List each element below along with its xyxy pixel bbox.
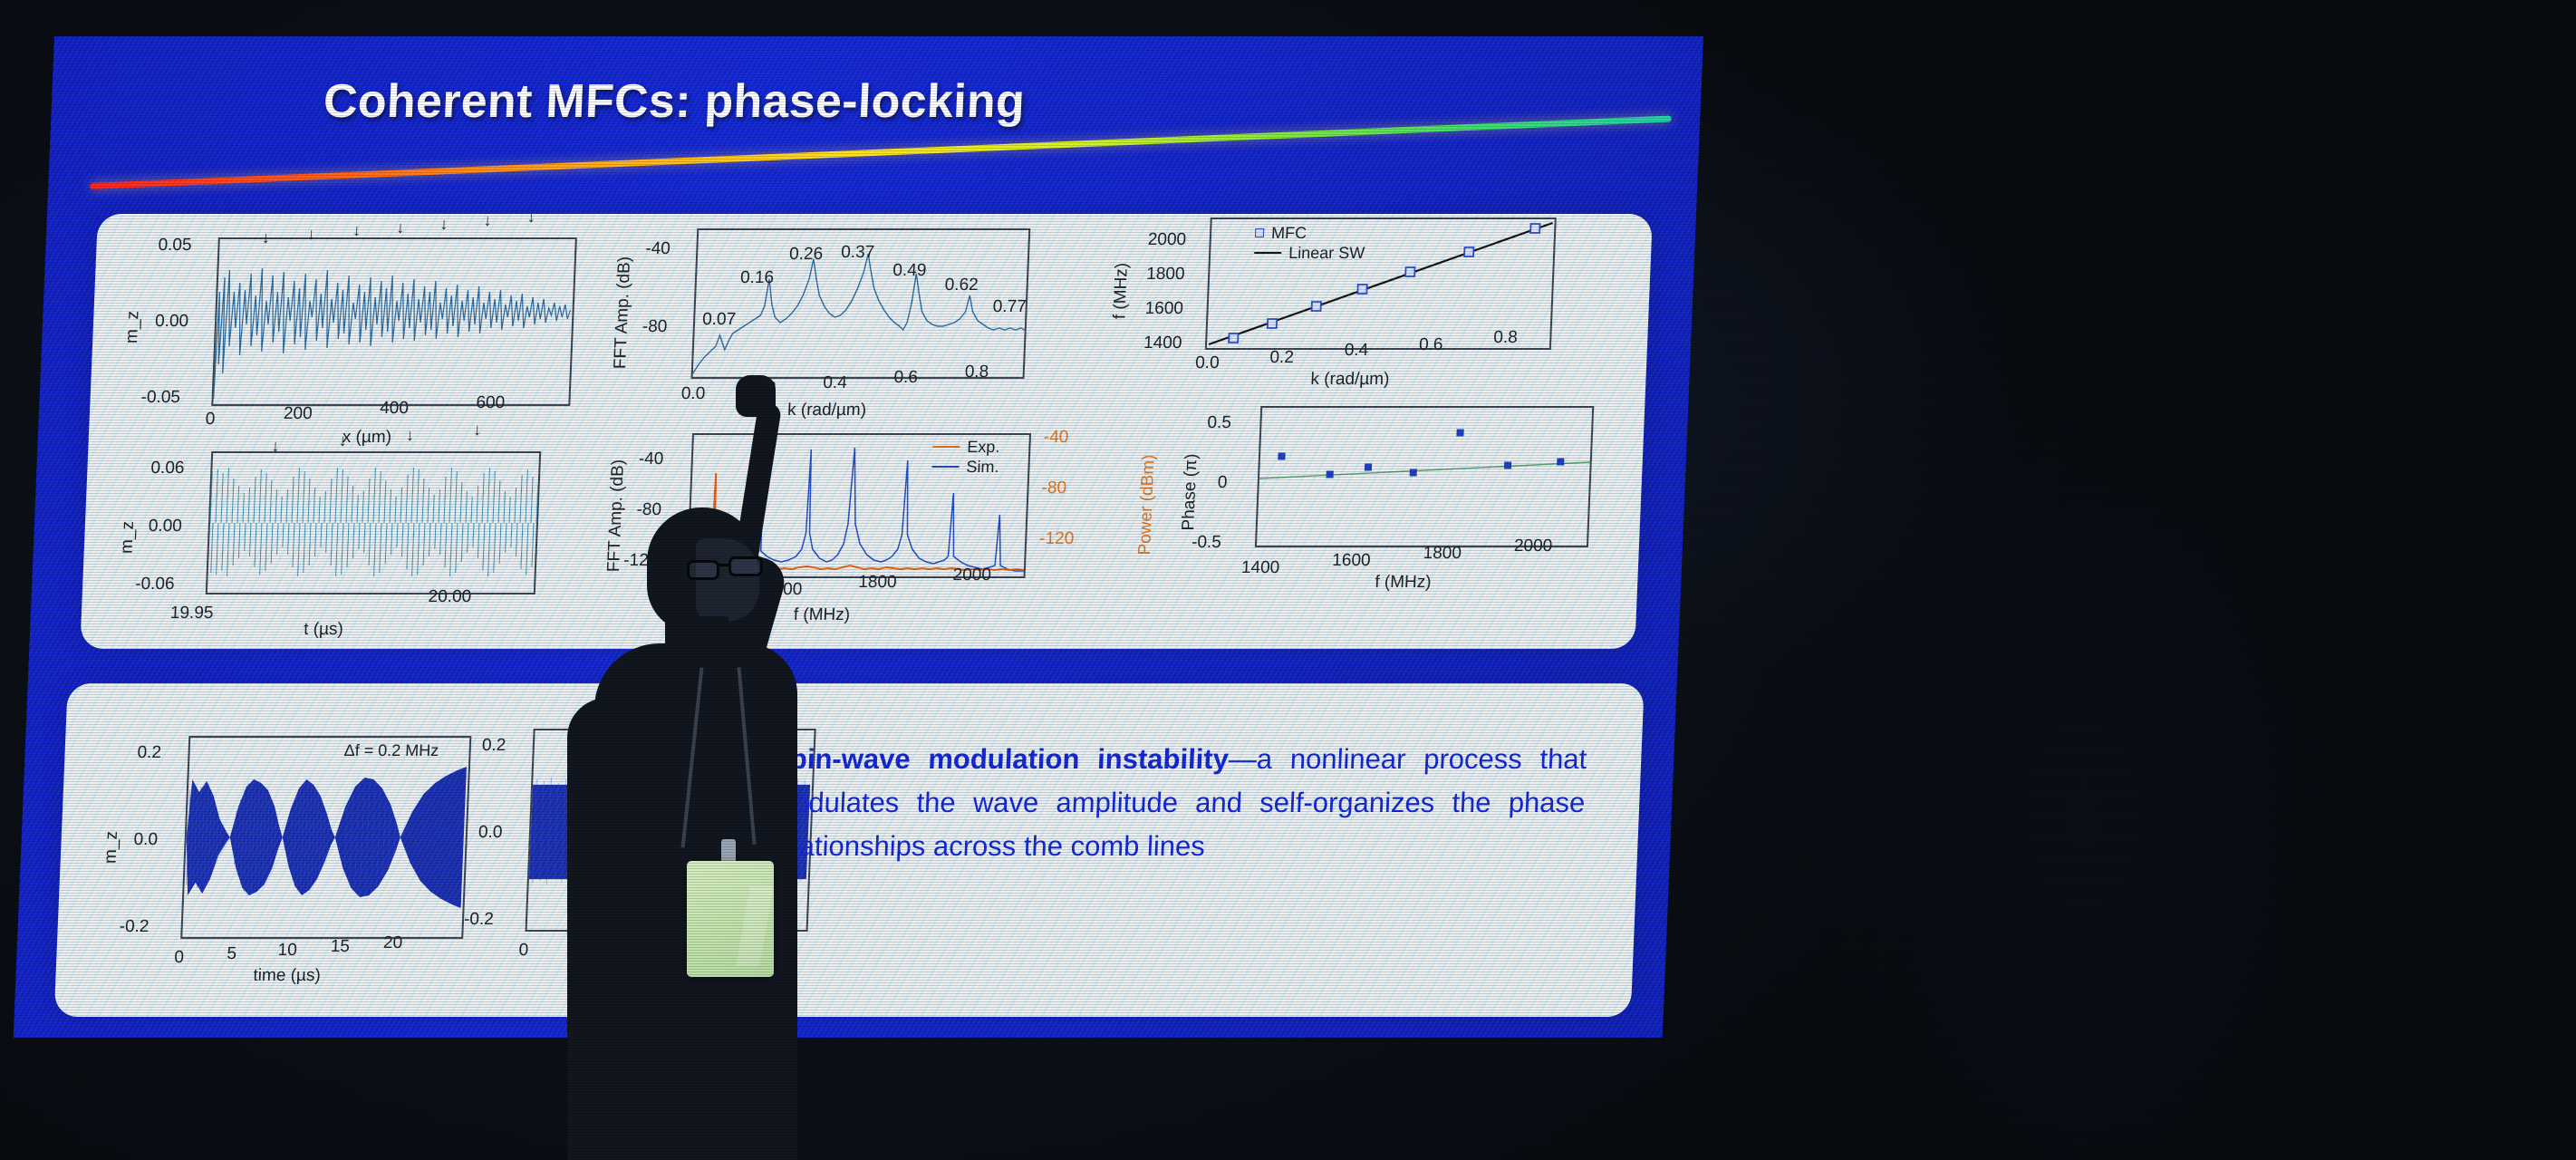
p4-ylabel: m_z [118,521,139,554]
p6-xtick-2: 1800 [1423,544,1462,564]
p2-peak-0: 0.07 [702,310,737,330]
p1-arrow-2: ↓ [307,225,316,244]
p8-ytick-1: 0.0 [478,823,503,843]
panel-modulated-left: m_z 0.2 0.0 -0.2 Δf = [92,721,483,984]
p6-xtick-3: 2000 [1513,536,1552,556]
p5-legend-label-0: Exp. [967,438,1000,457]
p2-peak-4: 0.49 [892,261,927,281]
p1-arrow-5: ↓ [439,215,449,234]
p1-xtick-1: 200 [283,404,313,424]
p3-legend-label-0: MFC [1271,224,1307,243]
panel-dispersion: f (MHz) 2000 1800 1600 1400 [1086,214,1621,402]
p3-legend-row-linear-sw: Linear SW [1254,243,1365,263]
p2-ytick-0: -40 [645,239,671,259]
p6-ylabel: Phase (π) [1179,454,1201,531]
p3-ylabel: f (MHz) [1110,263,1133,319]
p7-xtick-3: 15 [330,937,350,957]
p6-xlabel: f (MHz) [1375,573,1432,593]
panel-phase-spectrum: Phase (π) 0.5 0 -0.5 [1133,388,1649,605]
p1-xtick-0: 0 [205,410,215,430]
p5-right-ytick-1: -80 [1041,478,1066,498]
p2-xtick-4: 0.8 [964,362,989,382]
p5-right-ytick-2: -120 [1039,529,1075,549]
p4-arrow-3: ↓ [406,426,415,445]
photo-of-projected-slide: Coherent MFCs: phase-locking m_z 0.05 0.… [0,0,2576,1160]
p6-ytick-1: 0 [1217,473,1227,493]
p2-xtick-0: 0.0 [680,384,705,404]
line-swatch-icon [1254,252,1281,254]
p5-ytick-0: -40 [638,449,663,469]
p7-ytick-0: 0.2 [137,743,161,763]
p4-ytick-1: 0.00 [148,517,182,536]
p3-legend-label-1: Linear SW [1288,244,1365,263]
p2-ytick-1: -80 [642,317,667,337]
p8-ytick-0: 0.2 [481,736,506,756]
p1-trace [211,237,577,406]
square-marker-icon [1255,228,1264,237]
p2-peak-5: 0.62 [944,275,979,295]
p3-ytick-3: 1400 [1143,333,1182,353]
p3-legend: MFC Linear SW [1254,223,1366,263]
p7-ylabel: m_z [101,831,122,864]
p4-ytick-0: 0.06 [150,459,185,478]
p4-arrow-2: ↓ [338,431,347,450]
p1-arrow-6: ↓ [483,214,492,230]
p4-xlabel: t (µs) [304,620,344,640]
p5-right-ytick-0: -40 [1043,428,1068,448]
p1-ylabel: m_z [122,311,143,343]
presenter-fist [736,375,776,417]
p7-xlabel: time (µs) [253,966,321,986]
p3-xtick-0: 0.0 [1195,353,1220,373]
p1-ytick-0: 0.05 [158,236,192,256]
p7-xtick-1: 5 [227,944,236,964]
p3-xtick-2: 0.4 [1344,341,1368,361]
p6-series [1255,406,1594,547]
p8-xtick-0: 0 [518,941,528,961]
p7-xtick-2: 10 [277,941,297,961]
p2-peak-6: 0.77 [992,297,1027,317]
p7-xtick-0: 0 [174,948,184,968]
p4-arrow-1: ↓ [271,437,280,456]
page-title: Coherent MFCs: phase-locking [323,74,1026,129]
p3-ytick-0: 2000 [1147,230,1186,250]
p1-arrow-1: ↓ [261,228,270,247]
p3-ytick-1: 1800 [1146,265,1185,285]
p7-trace [180,736,471,939]
p4-arrow-4: ↓ [473,420,482,440]
p6-xtick-1: 1600 [1332,551,1371,571]
p2-xtick-3: 0.6 [893,368,918,388]
panel-k-space-fft: FFT Amp. (dB) -40 -80 0.07 0.16 0.26 0.3… [597,223,1076,418]
p7-ytick-2: -0.2 [119,917,150,937]
p2-peak-1: 0.16 [740,268,775,288]
p3-ytick-2: 1600 [1144,299,1183,319]
p4-ytick-2: -0.06 [135,575,175,594]
p4-xtick-0: 19.95 [169,604,213,623]
p3-xlabel: k (rad/µm) [1310,370,1390,390]
p1-arrow-4: ↓ [396,218,405,237]
p5-legend-row-sim: Sim. [931,457,999,477]
title-band: Coherent MFCs: phase-locking [49,51,1703,159]
presenter-left-shoulder [567,698,649,1160]
p1-xtick-3: 600 [476,393,506,413]
name-badge [687,861,774,977]
p6-ytick-2: -0.5 [1192,533,1222,553]
p3-xtick-1: 0.2 [1269,348,1294,368]
p1-ytick-2: -0.05 [140,388,180,408]
p2-xlabel: k (rad/µm) [787,401,867,420]
p8-ytick-2: -0.2 [464,910,495,930]
projection-screen-wrap: Coherent MFCs: phase-locking m_z 0.05 0.… [0,0,2576,1160]
p6-xtick-0: 1400 [1240,558,1279,578]
p7-annotation: Δf = 0.2 MHz [343,741,439,760]
glasses-icon [687,556,765,582]
p5-legend: Exp. Sim. [931,437,1000,477]
p2-peak-3: 0.37 [841,243,875,263]
p1-xtick-2: 400 [380,399,410,419]
p2-ylabel: FFT Amp. (dB) [611,256,635,369]
p3-legend-row-mfc: MFC [1255,223,1366,243]
panel-spatial-profile: m_z 0.05 0.00 -0.05 ↓ ↓ ↓ ↓ ↓ ↓ ↓ [117,230,596,420]
p5-legend-row-exp: Exp. [932,437,1000,457]
lanyard-clip-icon [721,839,736,863]
p3-xtick-4: 0.8 [1493,328,1518,348]
p2-xtick-2: 0.4 [823,373,847,393]
p4-trace [206,451,541,594]
p5-legend-label-1: Sim. [966,458,999,477]
panel-time-trace: m_z 0.06 0.00 -0.06 ↓ ↓ ↓ ↓ 19.95 20 [110,440,589,635]
p1-arrow-3: ↓ [352,221,362,240]
p1-arrow-7: ↓ [526,214,535,227]
line-swatch-blue-icon [931,466,959,468]
p7-ytick-1: 0.0 [133,830,158,850]
p1-ytick-1: 0.00 [155,312,189,332]
presenter-silhouette [634,507,1015,1160]
p7-xtick-4: 20 [383,933,403,953]
line-swatch-orange-icon [932,446,960,448]
p4-xtick-1: 20.00 [428,587,471,607]
p3-xtick-3: 0.6 [1419,335,1443,355]
p6-ytick-0: 0.5 [1207,413,1231,433]
p2-peak-2: 0.26 [789,245,824,265]
